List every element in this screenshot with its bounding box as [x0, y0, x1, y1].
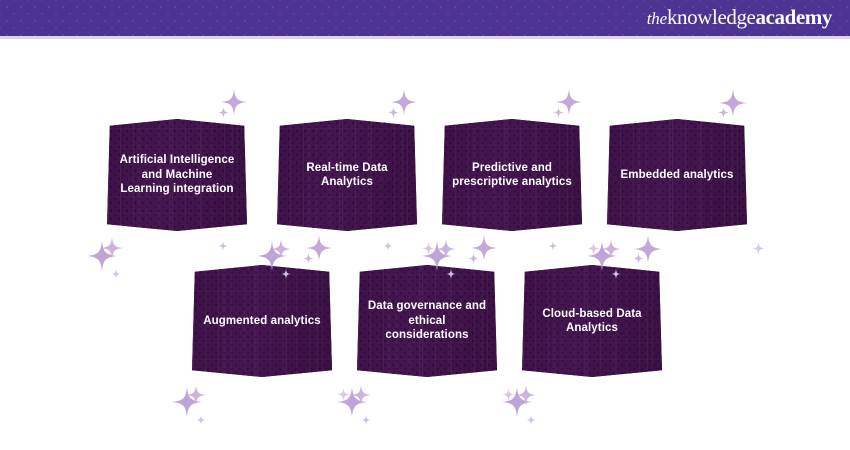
page-header: theknowledgeacademy	[0, 0, 850, 36]
sparkle-icon	[633, 253, 644, 264]
sparkle-icon	[516, 385, 536, 405]
sparkle-icon	[361, 415, 371, 425]
sparkle-icon	[218, 107, 229, 118]
sparkle-icon	[111, 269, 121, 279]
sparkle-icon	[553, 107, 564, 118]
hexagon-shape	[442, 119, 582, 231]
sparkle-icon	[351, 385, 371, 405]
hex-cell-ai-ml-integration[interactable]: Artificial Intelligence and Machine Lear…	[95, 105, 259, 263]
hex-cell-embedded-analytics[interactable]: Embedded analytics	[595, 105, 759, 263]
sparkle-icon	[186, 385, 206, 405]
hex-dot-pattern	[277, 119, 417, 231]
sparkle-icon	[221, 89, 247, 115]
hexagon-shape	[357, 265, 497, 377]
brand-logo[interactable]: theknowledgeacademy	[647, 5, 832, 31]
hex-cell-predictive-prescriptive-analytics[interactable]: Predictive and prescriptive analytics	[430, 105, 594, 263]
hexagon-shape	[277, 119, 417, 231]
hex-dot-pattern	[522, 265, 662, 377]
sparkle-icon	[196, 415, 206, 425]
logo-word-knowledge: knowledge	[667, 5, 756, 30]
hexagon-shape	[107, 119, 247, 231]
logo-word-the: the	[647, 9, 667, 29]
hexagon-shape	[192, 265, 332, 377]
hex-dot-pattern	[357, 265, 497, 377]
hexagon-diagram: Artificial Intelligence and Machine Lear…	[0, 39, 850, 450]
sparkle-icon	[526, 415, 536, 425]
hex-cell-cloud-based-data-analytics[interactable]: Cloud-based Data Analytics	[510, 251, 674, 409]
sparkle-icon	[468, 253, 479, 264]
sparkle-icon	[391, 89, 417, 115]
hexagon-shape	[522, 265, 662, 377]
sparkle-icon	[87, 241, 117, 271]
hex-dot-pattern	[442, 119, 582, 231]
hex-dot-pattern	[607, 119, 747, 231]
sparkle-icon	[172, 387, 202, 417]
hex-cell-augmented-analytics[interactable]: Augmented analytics	[180, 251, 344, 409]
hex-cell-data-governance-ethics[interactable]: Data governance and ethical consideratio…	[345, 251, 509, 409]
sparkle-icon	[101, 237, 123, 259]
sparkle-icon	[752, 242, 765, 255]
hex-dot-pattern	[107, 119, 247, 231]
sparkle-icon	[718, 107, 729, 118]
hex-dot-pattern	[192, 265, 332, 377]
sparkle-icon	[719, 89, 747, 117]
hex-cell-real-time-data-analytics[interactable]: Real-time Data Analytics	[265, 105, 429, 263]
sparkle-icon	[556, 89, 582, 115]
hexagon-shape	[607, 119, 747, 231]
sparkle-icon	[303, 253, 314, 264]
sparkle-icon	[388, 107, 399, 118]
logo-word-academy: academy	[755, 5, 832, 30]
